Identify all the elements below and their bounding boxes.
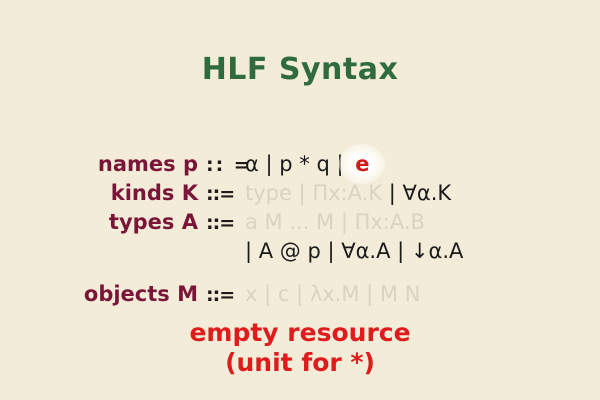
grammar-production-kinds-dimmed: type | Πx:A.K: [245, 181, 382, 205]
grammar-production-kinds-active: | ∀α.K: [389, 181, 451, 205]
grammar-row-kinds: kinds K ::= type | Πx:A.K | ∀α.K: [0, 181, 600, 210]
grammar-row-types: types A ::= a M ... M | Πx:A.B: [0, 210, 600, 239]
caption-block: empty resource (unit for *): [0, 318, 600, 378]
highlighted-token-e[interactable]: e: [350, 152, 374, 176]
grammar-production-types-continued: | A @ p | ∀α.A | ↓α.A: [245, 239, 463, 263]
grammar-body-types: a M ... M | Πx:A.B: [245, 210, 425, 234]
grammar-label-objects: objects M: [0, 282, 198, 306]
grammar-separator-names: :: =: [198, 154, 245, 176]
slide-canvas: HLF Syntax names p :: = α | p * q | e ki…: [0, 0, 600, 400]
grammar-row-types-continuation: | A @ p | ∀α.A | ↓α.A: [0, 239, 600, 268]
grammar-label-kinds: kinds K: [0, 181, 198, 205]
grammar-separator-types: ::=: [198, 212, 245, 234]
grammar-row-objects: objects M ::= x | c | λx.M | M N: [0, 282, 600, 311]
grammar-production-names: α | p * q |: [245, 152, 344, 176]
grammar-label-names: names p: [0, 152, 198, 176]
grammar-separator-objects: ::=: [198, 284, 245, 306]
grammar-body-kinds: type | Πx:A.K | ∀α.K: [245, 181, 451, 205]
grammar-body-types-continuation: | A @ p | ∀α.A | ↓α.A: [245, 239, 463, 263]
grammar-separator-kinds: ::=: [198, 183, 245, 205]
page-title: HLF Syntax: [0, 52, 600, 87]
grammar-block: names p :: = α | p * q | e kinds K ::= t…: [0, 152, 600, 311]
grammar-body-objects: x | c | λx.M | M N: [245, 282, 420, 306]
grammar-row-gap: [0, 268, 600, 282]
caption-line-1: empty resource: [0, 318, 600, 348]
grammar-production-types-dimmed: a M ... M | Πx:A.B: [245, 210, 425, 234]
caption-line-2: (unit for *): [0, 348, 600, 378]
grammar-label-types: types A: [0, 210, 198, 234]
grammar-row-names: names p :: = α | p * q | e: [0, 152, 600, 181]
grammar-production-objects-dimmed: x | c | λx.M | M N: [245, 282, 420, 306]
highlighted-token-e-label: e: [355, 152, 369, 176]
grammar-body-names: α | p * q | e: [245, 152, 374, 176]
